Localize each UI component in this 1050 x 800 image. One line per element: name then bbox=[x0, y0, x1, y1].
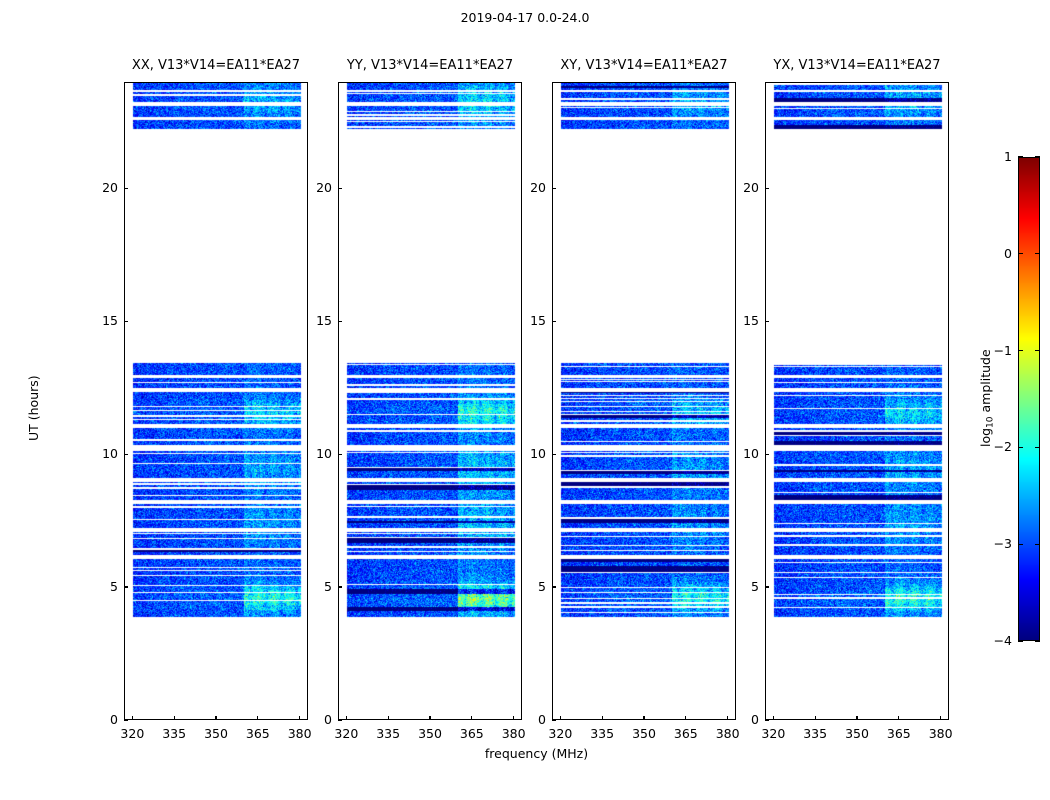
x-tick bbox=[773, 716, 774, 720]
x-tick bbox=[471, 716, 472, 720]
waterfall-panel-xx[interactable] bbox=[124, 82, 308, 720]
y-tick-label: 20 bbox=[721, 180, 759, 195]
y-tick-label: 0 bbox=[508, 712, 546, 727]
colorbar-tick bbox=[1035, 640, 1040, 641]
y-tick-label: 10 bbox=[721, 446, 759, 461]
y-tick bbox=[338, 586, 342, 587]
x-tick bbox=[346, 716, 347, 720]
y-tick-label: 5 bbox=[80, 579, 118, 594]
colorbar-tick-label: −4 bbox=[970, 633, 1012, 648]
x-tick bbox=[815, 716, 816, 720]
x-tick bbox=[856, 716, 857, 720]
x-tick bbox=[560, 716, 561, 720]
y-tick-label: 15 bbox=[721, 313, 759, 328]
x-tick bbox=[643, 716, 644, 720]
y-tick-label: 0 bbox=[294, 712, 332, 727]
colorbar-tick bbox=[1035, 544, 1040, 545]
y-tick bbox=[765, 321, 769, 322]
y-tick-label: 15 bbox=[80, 313, 118, 328]
colorbar-tick-label: 1 bbox=[970, 149, 1012, 164]
waterfall-panel-xy[interactable] bbox=[552, 82, 736, 720]
y-tick bbox=[124, 586, 128, 587]
colorbar-gradient bbox=[1019, 158, 1039, 640]
y-tick-label: 10 bbox=[80, 446, 118, 461]
x-tick-label: 380 bbox=[489, 726, 539, 741]
colorbar[interactable] bbox=[1018, 157, 1040, 641]
panel-title-yx: YX, V13*V14=EA11*EA27 bbox=[765, 58, 949, 73]
x-tick bbox=[685, 716, 686, 720]
colorbar-tick bbox=[1018, 447, 1023, 448]
y-tick-label: 20 bbox=[508, 180, 546, 195]
x-axis-label: frequency (MHz) bbox=[124, 746, 949, 761]
colorbar-tick-label: −3 bbox=[970, 536, 1012, 551]
y-tick bbox=[338, 321, 342, 322]
waterfall-image-xx bbox=[125, 83, 307, 719]
colorbar-tick bbox=[1035, 350, 1040, 351]
figure-canvas: 2019-04-17 0.0-24.0 XX, V13*V14=EA11*EA2… bbox=[0, 0, 1050, 800]
x-tick bbox=[174, 716, 175, 720]
x-tick bbox=[257, 716, 258, 720]
colorbar-label-prefix: log bbox=[978, 428, 993, 447]
colorbar-tick bbox=[1018, 156, 1023, 157]
x-tick-label: 380 bbox=[916, 726, 966, 741]
colorbar-tick bbox=[1018, 544, 1023, 545]
y-tick bbox=[338, 188, 342, 189]
y-tick bbox=[124, 454, 128, 455]
x-tick bbox=[215, 716, 216, 720]
colorbar-tick bbox=[1035, 156, 1040, 157]
x-tick bbox=[898, 716, 899, 720]
y-tick bbox=[338, 719, 342, 720]
y-tick bbox=[552, 454, 556, 455]
y-tick bbox=[124, 321, 128, 322]
waterfall-image-yy bbox=[339, 83, 521, 719]
waterfall-image-yx bbox=[766, 83, 948, 719]
panel-title-xy: XY, V13*V14=EA11*EA27 bbox=[552, 58, 736, 73]
colorbar-tick-label: 0 bbox=[970, 246, 1012, 261]
y-tick bbox=[552, 719, 556, 720]
colorbar-tick bbox=[1018, 640, 1023, 641]
y-tick bbox=[124, 188, 128, 189]
x-tick bbox=[388, 716, 389, 720]
panel-title-xx: XX, V13*V14=EA11*EA27 bbox=[124, 58, 308, 73]
y-tick-label: 0 bbox=[721, 712, 759, 727]
y-tick-label: 15 bbox=[508, 313, 546, 328]
y-tick-label: 5 bbox=[294, 579, 332, 594]
y-tick bbox=[552, 586, 556, 587]
y-tick-label: 20 bbox=[294, 180, 332, 195]
y-tick-label: 5 bbox=[721, 579, 759, 594]
y-tick bbox=[552, 188, 556, 189]
panel-title-yy: YY, V13*V14=EA11*EA27 bbox=[338, 58, 522, 73]
colorbar-label: log10 amplitude bbox=[978, 349, 996, 447]
y-tick bbox=[124, 719, 128, 720]
y-tick bbox=[765, 454, 769, 455]
y-tick bbox=[765, 188, 769, 189]
x-tick bbox=[429, 716, 430, 720]
x-tick-label: 380 bbox=[703, 726, 753, 741]
y-tick-label: 0 bbox=[80, 712, 118, 727]
waterfall-panel-yx[interactable] bbox=[765, 82, 949, 720]
y-tick-label: 15 bbox=[294, 313, 332, 328]
waterfall-image-xy bbox=[553, 83, 735, 719]
y-tick-label: 10 bbox=[508, 446, 546, 461]
x-tick bbox=[602, 716, 603, 720]
colorbar-label-suffix: amplitude bbox=[978, 349, 993, 416]
colorbar-label-subscript: 10 bbox=[986, 416, 996, 427]
y-tick bbox=[338, 454, 342, 455]
y-tick-label: 20 bbox=[80, 180, 118, 195]
y-axis-label: UT (hours) bbox=[26, 375, 41, 441]
y-tick bbox=[765, 719, 769, 720]
colorbar-tick bbox=[1018, 253, 1023, 254]
y-tick bbox=[552, 321, 556, 322]
y-tick-label: 5 bbox=[508, 579, 546, 594]
waterfall-panel-yy[interactable] bbox=[338, 82, 522, 720]
x-tick bbox=[940, 716, 941, 720]
y-tick bbox=[765, 586, 769, 587]
colorbar-tick bbox=[1018, 350, 1023, 351]
figure-suptitle: 2019-04-17 0.0-24.0 bbox=[0, 10, 1050, 25]
colorbar-tick bbox=[1035, 253, 1040, 254]
colorbar-tick bbox=[1035, 447, 1040, 448]
x-tick bbox=[132, 716, 133, 720]
x-tick-label: 380 bbox=[275, 726, 325, 741]
y-tick-label: 10 bbox=[294, 446, 332, 461]
